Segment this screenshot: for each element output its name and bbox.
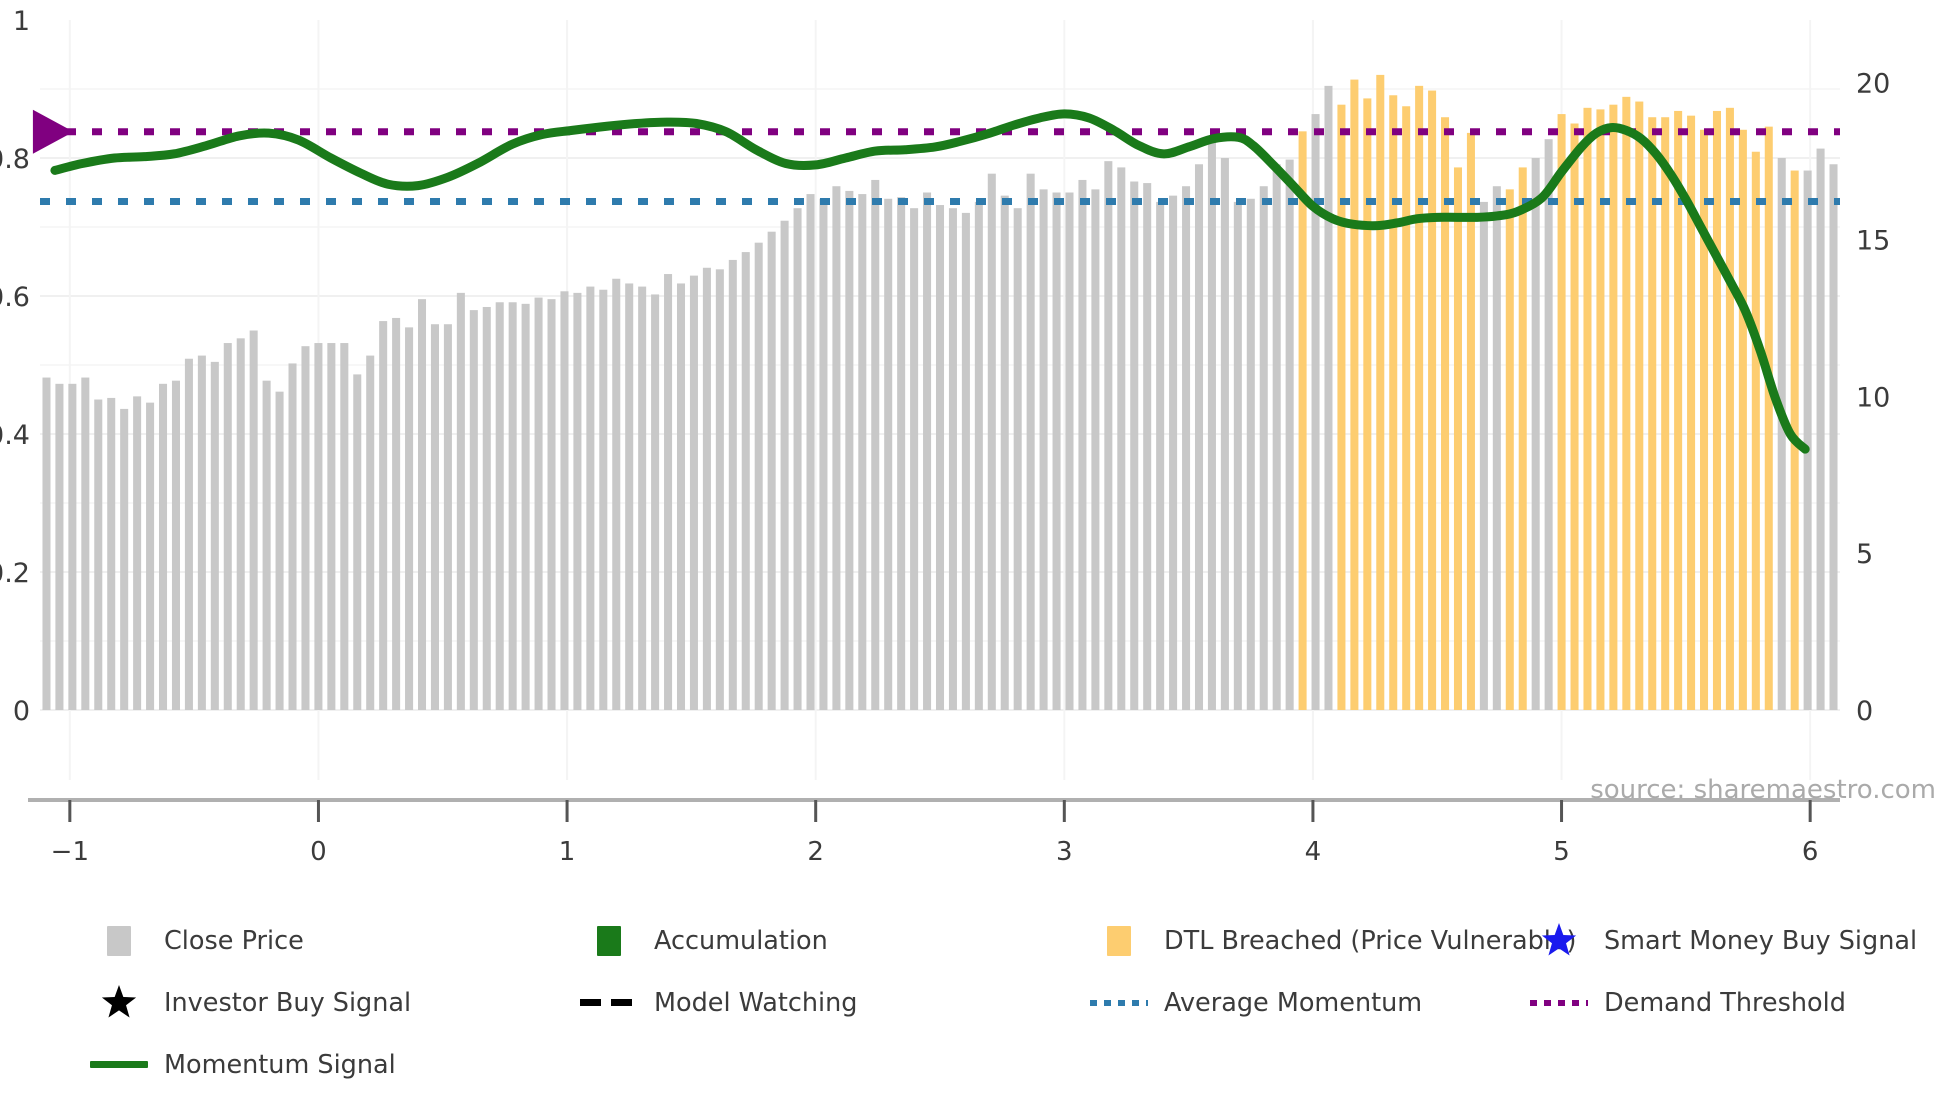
y-axis-right-tick-label: 15 <box>1856 226 1890 257</box>
bar-dtl-breached <box>1350 80 1358 710</box>
bar-dtl-breached <box>1558 114 1566 710</box>
bar-close-price <box>819 199 827 710</box>
x-axis-tick-label: 4 <box>1305 837 1322 867</box>
bar-dtl-breached <box>1609 105 1617 710</box>
bar-close-price <box>703 268 711 710</box>
x-axis-tick-label: −1 <box>51 837 89 867</box>
bar-close-price <box>314 343 322 710</box>
bar-close-price <box>431 324 439 710</box>
bar-dtl-breached <box>1506 189 1514 710</box>
bar-close-price <box>858 194 866 710</box>
bar-close-price <box>289 363 297 710</box>
bar-close-price <box>444 324 452 710</box>
bar-close-price <box>716 269 724 710</box>
bar-close-price <box>94 400 102 711</box>
bar-dtl-breached <box>1622 97 1630 710</box>
bar-close-price <box>509 302 517 710</box>
bar-close-price <box>1273 164 1281 710</box>
bar-close-price <box>1169 196 1177 710</box>
legend-label: Accumulation <box>648 926 828 956</box>
legend-swatch-bar-icon <box>80 925 158 956</box>
bar-close-price <box>1065 193 1073 711</box>
bar-close-price <box>483 307 491 710</box>
bar-close-price <box>185 359 193 710</box>
legend-label: Close Price <box>158 926 304 956</box>
bar-close-price <box>1195 164 1203 710</box>
bar-close-price <box>301 346 309 710</box>
bar-close-price <box>1117 167 1125 710</box>
bar-close-price <box>884 199 892 710</box>
bar-swatch-icon <box>107 926 131 956</box>
legend-momentum-signal[interactable]: Momentum Signal <box>80 1049 396 1080</box>
bar-close-price <box>755 243 763 710</box>
bar-close-price <box>327 343 335 710</box>
bar-close-price <box>81 378 89 710</box>
legend-swatch-star-icon <box>1520 925 1598 956</box>
bar-close-price <box>120 409 128 710</box>
bar-close-price <box>794 208 802 710</box>
y-axis-left-tick-label: 0.8 <box>0 144 30 175</box>
bar-dtl-breached <box>1441 117 1449 710</box>
bar-dtl-breached <box>1376 75 1384 710</box>
bar-close-price <box>68 384 76 710</box>
bar-close-price <box>198 356 206 710</box>
bar-close-price <box>1286 160 1294 710</box>
bar-close-price <box>1040 189 1048 710</box>
bar-close-price <box>276 392 284 710</box>
bar-close-price <box>781 221 789 710</box>
bar-close-price <box>470 310 478 710</box>
bar-close-price <box>522 304 530 710</box>
bar-close-price <box>1208 139 1216 710</box>
bar-close-price <box>42 378 50 710</box>
bar-close-price <box>988 174 996 710</box>
bar-close-price <box>729 260 737 710</box>
bar-close-price <box>1830 164 1838 710</box>
bar-close-price <box>1027 174 1035 710</box>
demand-threshold-start-marker <box>33 110 74 154</box>
bar-close-price <box>677 283 685 710</box>
bar-close-price <box>1324 86 1332 710</box>
bar-dtl-breached <box>1299 131 1307 710</box>
bar-close-price <box>379 321 387 710</box>
bar-close-price <box>1493 186 1501 710</box>
bar-close-price <box>1804 171 1812 710</box>
bar-close-price <box>832 186 840 710</box>
chart-legend: Close PriceAccumulationDTL Breached (Pri… <box>80 925 1940 1018</box>
x-axis-tick-label: 1 <box>559 837 576 867</box>
bar-close-price <box>664 274 672 710</box>
bar-close-price <box>560 291 568 710</box>
bar-close-price <box>146 403 154 710</box>
bar-close-price <box>910 208 918 710</box>
bar-dtl-breached <box>1635 102 1643 710</box>
y-axis-left-tick-label: 0 <box>13 696 30 727</box>
bar-close-price <box>1247 199 1255 710</box>
bar-close-price <box>496 302 504 710</box>
bar-close-price <box>1532 158 1540 710</box>
bar-close-price <box>923 193 931 711</box>
bar-close-price <box>949 208 957 710</box>
bar-swatch-icon <box>1107 926 1131 956</box>
bar-close-price <box>1545 139 1553 710</box>
legend-row: Momentum Signal <box>80 987 1940 1018</box>
bar-close-price <box>936 205 944 710</box>
line-swatch-icon <box>90 1061 148 1068</box>
bar-close-price <box>1130 182 1138 710</box>
bar-close-price <box>1014 208 1022 710</box>
bar-close-price <box>1778 158 1786 710</box>
legend-swatch-line-icon <box>80 1049 158 1080</box>
legend-dtl-breached[interactable]: DTL Breached (Price Vulnerable) <box>1080 925 1577 956</box>
y-axis-left-tick-label: 0.6 <box>0 282 30 313</box>
bar-dtl-breached <box>1583 108 1591 710</box>
legend-row: Investor Buy SignalModel WatchingAverage… <box>80 956 1940 987</box>
bar-close-price <box>1234 202 1242 710</box>
bar-dtl-breached <box>1739 130 1747 710</box>
bar-close-price <box>573 293 581 710</box>
bar-close-price <box>742 252 750 710</box>
bar-close-price <box>1156 202 1164 710</box>
bar-dtl-breached <box>1661 117 1669 710</box>
bar-close-price <box>638 287 646 710</box>
bar-dtl-breached <box>1337 105 1345 710</box>
legend-close-price[interactable]: Close Price <box>80 925 304 956</box>
y-axis-left-tick-label: 0.4 <box>0 420 30 451</box>
bar-close-price <box>263 381 271 710</box>
bar-dtl-breached <box>1389 95 1397 710</box>
bar-close-price <box>1104 161 1112 710</box>
bar-close-price <box>107 398 115 710</box>
bar-close-price <box>133 396 141 710</box>
bar-close-price <box>768 232 776 710</box>
source-attribution: source: sharemaestro.com <box>1590 775 1936 805</box>
bar-close-price <box>1182 186 1190 710</box>
legend-label: Momentum Signal <box>158 1050 396 1080</box>
bar-dtl-breached <box>1648 117 1656 710</box>
legend-label: Smart Money Buy Signal <box>1598 926 1917 956</box>
y-axis-right-tick-label: 0 <box>1856 696 1873 727</box>
bar-close-price <box>250 331 258 711</box>
legend-row: Close PriceAccumulationDTL Breached (Pri… <box>80 925 1940 956</box>
bar-close-price <box>353 374 361 710</box>
bar-dtl-breached <box>1428 91 1436 710</box>
bar-dtl-breached <box>1700 130 1708 710</box>
bar-close-price <box>651 294 659 710</box>
bar-close-price <box>172 381 180 710</box>
bar-close-price <box>586 287 594 710</box>
bar-close-price <box>457 293 465 710</box>
bar-dtl-breached <box>1713 111 1721 710</box>
bar-dtl-breached <box>1519 167 1527 710</box>
bar-close-price <box>871 180 879 710</box>
bar-close-price <box>1001 196 1009 710</box>
bar-close-price <box>1260 186 1268 710</box>
bar-close-price <box>237 338 245 710</box>
bar-close-price <box>1078 180 1086 710</box>
bar-close-price <box>897 197 905 710</box>
bar-dtl-breached <box>1454 167 1462 710</box>
bar-close-price <box>366 356 374 710</box>
bar-close-price <box>975 202 983 710</box>
y-axis-left-tick-label: 1 <box>13 6 30 37</box>
bar-dtl-breached <box>1571 124 1579 711</box>
bar-close-price <box>418 299 426 710</box>
bar-swatch-icon <box>597 926 621 956</box>
bar-close-price <box>1817 149 1825 710</box>
bar-close-price <box>1480 202 1488 710</box>
star-icon <box>1540 922 1578 960</box>
bar-close-price <box>806 194 814 710</box>
bar-dtl-breached <box>1415 86 1423 710</box>
bar-dtl-breached <box>1402 106 1410 710</box>
bar-close-price <box>1221 158 1229 710</box>
bar-close-price <box>845 191 853 710</box>
bar-close-price <box>1053 193 1061 711</box>
bar-close-price <box>392 318 400 710</box>
bar-close-price <box>612 279 620 710</box>
bar-close-price <box>625 283 633 710</box>
bar-close-price <box>1143 183 1151 710</box>
bar-close-price <box>690 276 698 710</box>
x-axis-tick-label: 2 <box>807 837 824 867</box>
x-axis-tick-label: 0 <box>310 837 327 867</box>
x-axis-tick-label: 6 <box>1802 837 1819 867</box>
bar-close-price <box>224 343 232 710</box>
bar-close-price <box>535 298 543 710</box>
legend-swatch-bar-icon <box>570 925 648 956</box>
legend-swatch-bar-icon <box>1080 925 1158 956</box>
bar-dtl-breached <box>1363 98 1371 710</box>
bar-close-price <box>211 362 219 710</box>
x-axis-tick-label: 3 <box>1056 837 1073 867</box>
y-axis-left-tick-label: 0.2 <box>0 558 30 589</box>
x-axis-tick-label: 5 <box>1553 837 1570 867</box>
bar-dtl-breached <box>1752 152 1760 710</box>
bar-close-price <box>405 327 413 710</box>
bar-close-price <box>1091 189 1099 710</box>
bar-close-price <box>962 213 970 710</box>
bar-close-price <box>159 384 167 710</box>
bar-close-price <box>548 299 556 710</box>
legend-label: DTL Breached (Price Vulnerable) <box>1158 926 1577 956</box>
bar-close-price <box>340 343 348 710</box>
legend-accumulation[interactable]: Accumulation <box>570 925 828 956</box>
chart-root: −1012345600.20.40.60.8105101520 source: … <box>0 0 1960 1102</box>
bar-close-price <box>599 290 607 710</box>
markers-layer <box>33 110 74 154</box>
bar-close-price <box>55 384 63 710</box>
y-axis-right-tick-label: 5 <box>1856 539 1873 570</box>
y-axis-right-tick-label: 10 <box>1856 382 1890 413</box>
legend-smart-money[interactable]: Smart Money Buy Signal <box>1520 925 1917 956</box>
bar-dtl-breached <box>1765 127 1773 710</box>
y-axis-right-tick-label: 20 <box>1856 69 1890 100</box>
